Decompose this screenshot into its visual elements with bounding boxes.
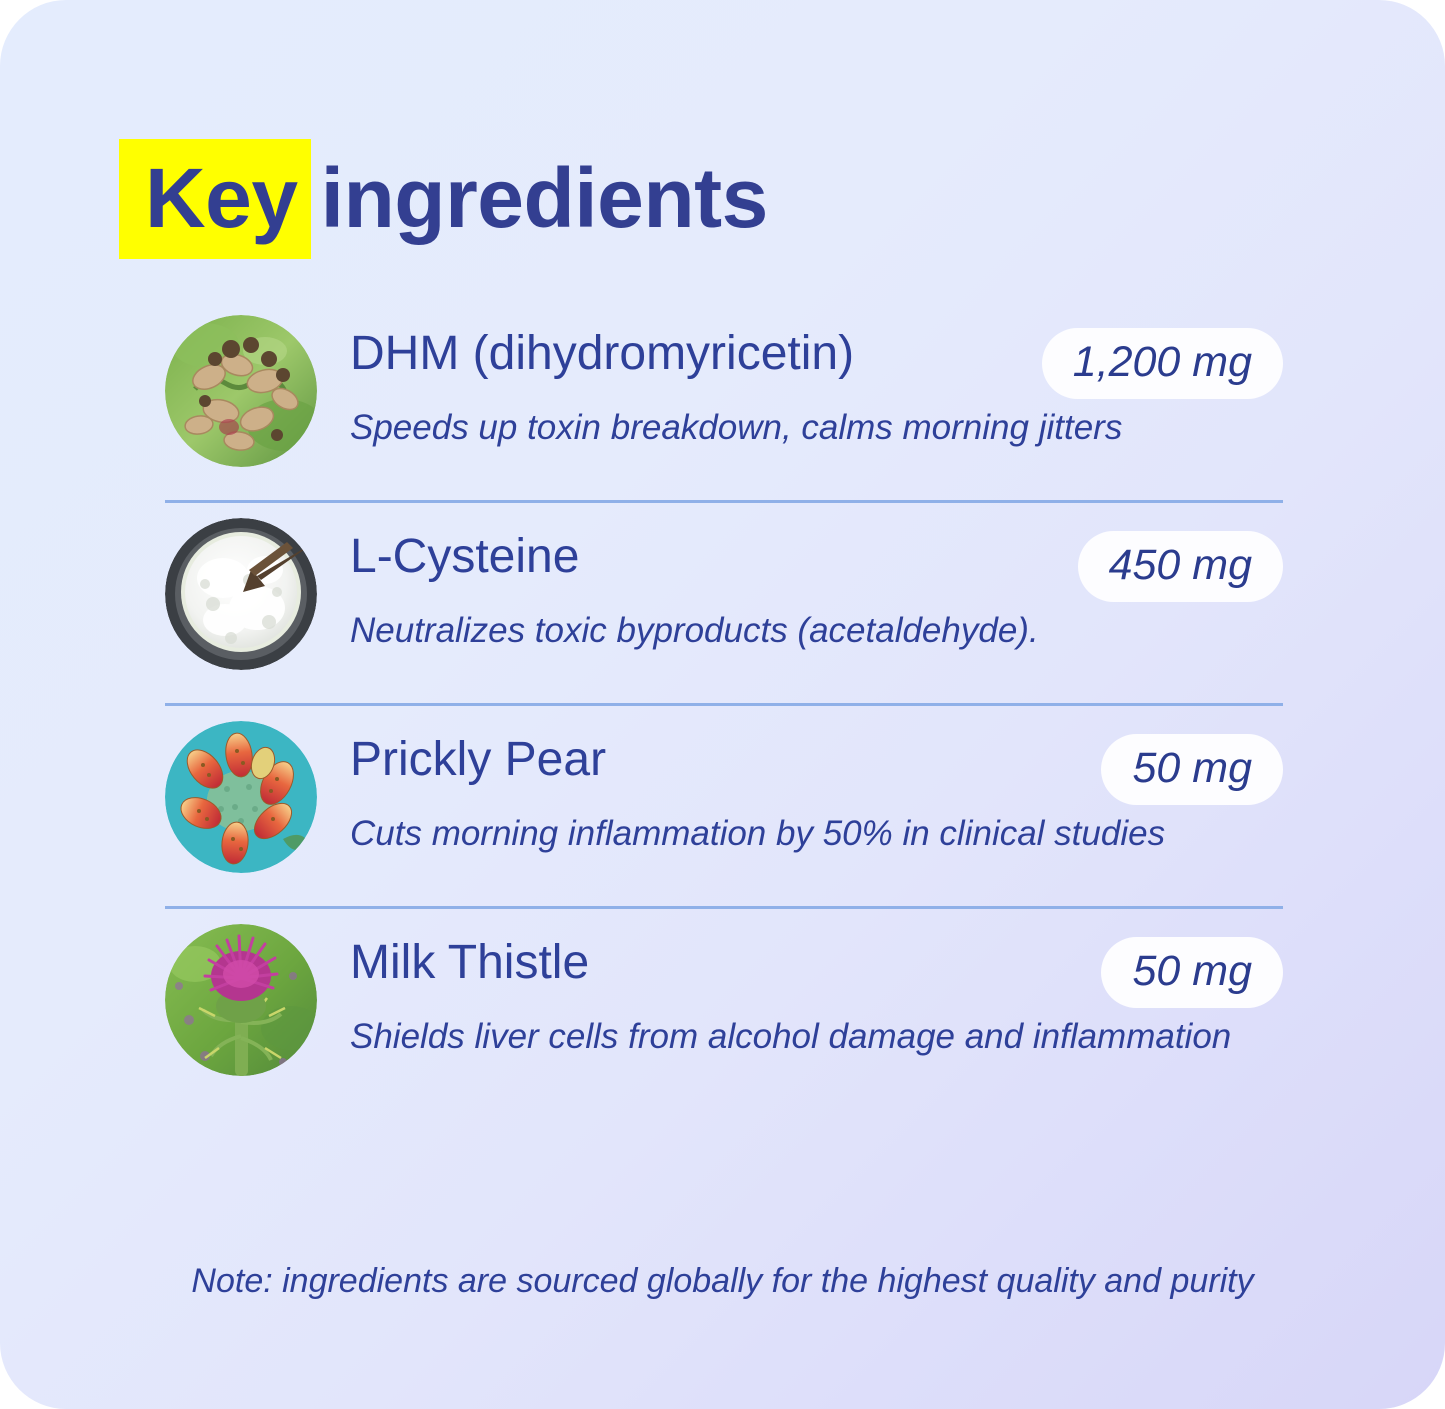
key-ingredients-card: Keyingredients [0,0,1445,1409]
page-title: Keyingredients [119,143,768,253]
ingredient-name: L-Cysteine [350,531,579,583]
ingredient-name: Milk Thistle [350,937,589,989]
page-title-rest: ingredients [311,151,768,245]
list-item[interactable]: Milk Thistle 50 mg Shields liver cells f… [165,909,1283,1109]
ingredient-dose-badge: 50 mg [1101,734,1283,805]
ingredient-name: Prickly Pear [350,734,606,786]
list-item[interactable]: DHM (dihydromyricetin) 1,200 mg Speeds u… [165,300,1283,500]
ingredient-thumbnail-prickly-pear [165,721,317,873]
ingredient-dose-badge: 50 mg [1101,937,1283,1008]
ingredient-thumbnail-l-cysteine [165,518,317,670]
ingredient-thumbnail-milk-thistle [165,924,317,1076]
ingredient-description: Neutralizes toxic byproducts (acetaldehy… [350,610,1039,652]
list-item[interactable]: Prickly Pear 50 mg Cuts morning inflamma… [165,706,1283,906]
ingredient-dose-badge: 1,200 mg [1042,328,1283,399]
footer-note: Note: ingredients are sourced globally f… [0,1262,1445,1301]
page-title-highlight: Key [119,139,311,259]
list-item[interactable]: L-Cysteine 450 mg Neutralizes toxic bypr… [165,503,1283,703]
ingredient-list: DHM (dihydromyricetin) 1,200 mg Speeds u… [165,300,1283,1109]
ingredient-description: Shields liver cells from alcohol damage … [350,1016,1231,1058]
ingredient-dose-badge: 450 mg [1078,531,1283,602]
ingredient-name: DHM (dihydromyricetin) [350,328,854,380]
ingredient-thumbnail-dhm [165,315,317,467]
ingredient-description: Speeds up toxin breakdown, calms morning… [350,407,1122,449]
ingredient-description: Cuts morning inflammation by 50% in clin… [350,813,1165,855]
